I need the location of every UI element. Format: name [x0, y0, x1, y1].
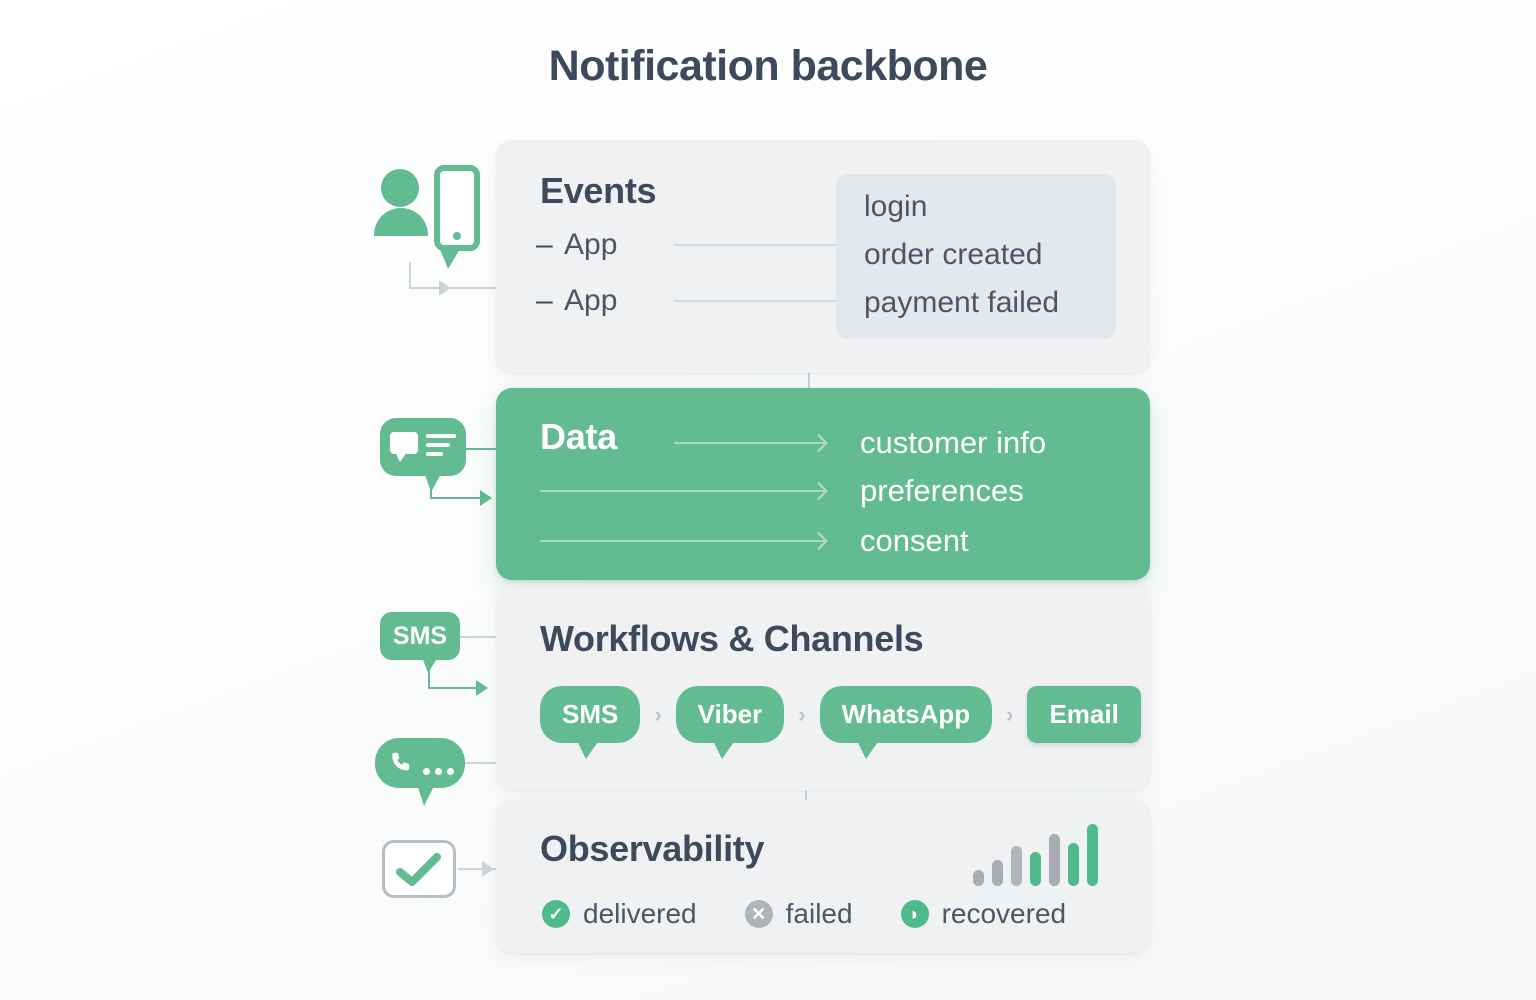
card-data[interactable]: Data customer info preferences consent	[496, 388, 1150, 580]
sparkline-chart	[973, 822, 1098, 886]
observability-title: Observability	[540, 828, 764, 870]
data-row-arrow	[540, 490, 824, 492]
legend-label: failed	[786, 898, 853, 930]
chat-line-3	[426, 452, 443, 456]
call-dot-3	[447, 768, 454, 775]
checkbox-icon	[382, 840, 456, 898]
connector-data-elbow-vertical	[430, 476, 432, 498]
user-phone-icon	[378, 165, 480, 260]
workflows-title: Workflows & Channels	[540, 618, 923, 660]
card-workflows[interactable]: Workflows & Channels SMS › Viber › Whats…	[496, 588, 1150, 790]
call-bubble-icon	[375, 738, 465, 788]
phone-handset-glyph	[389, 750, 415, 776]
call-bubble-tail	[417, 784, 435, 806]
event-example-item: order created	[864, 238, 1042, 272]
failed-icon: ✕	[745, 900, 773, 928]
user-head-shape	[381, 169, 419, 207]
events-examples-panel: login order created payment failed	[836, 174, 1116, 339]
sparkline-bar	[1011, 846, 1022, 886]
connector-sms-horizontal	[460, 636, 498, 638]
chat-line-2	[426, 443, 450, 447]
sms-badge-tail	[422, 657, 438, 673]
data-row-label: consent	[860, 523, 969, 559]
data-row: customer info	[540, 426, 1110, 460]
channel-chip-label: SMS	[562, 699, 618, 729]
call-dot-1	[423, 768, 430, 775]
events-row: – App	[536, 284, 844, 318]
legend-label: recovered	[942, 898, 1067, 930]
data-row-label: preferences	[860, 473, 1024, 509]
phone-bubble-tail	[440, 249, 460, 269]
channel-chip-sms[interactable]: SMS	[540, 686, 640, 743]
legend-item-failed: ✕ failed	[745, 898, 853, 930]
data-row-arrow	[540, 540, 824, 542]
sparkline-bar	[1049, 834, 1060, 886]
events-row-arrow	[674, 300, 844, 302]
checkmark-glyph	[395, 852, 443, 888]
chat-bubble-glyph	[390, 432, 418, 454]
sparkline-bar	[1030, 852, 1041, 886]
chat-line-1	[426, 434, 456, 438]
events-row-arrow	[674, 244, 844, 246]
sparkline-bar	[1087, 824, 1098, 886]
connector-events-elbow-horizontal	[409, 287, 497, 289]
connector-sms-elbow-vertical	[428, 660, 430, 688]
data-row: preferences	[540, 474, 1110, 508]
chat-bubble-tail	[424, 472, 442, 492]
connector-events-to-data	[808, 373, 810, 389]
channel-chip-label: WhatsApp	[842, 699, 971, 729]
legend-label: delivered	[583, 898, 697, 930]
events-row-dash: –	[536, 230, 564, 260]
connector-call-horizontal	[465, 762, 498, 764]
channel-chip-label: Viber	[698, 699, 763, 729]
user-body-shape	[374, 208, 428, 236]
data-row: consent	[540, 524, 1110, 558]
channel-chip-label: Email	[1049, 699, 1118, 729]
channel-chip-whatsapp[interactable]: WhatsApp	[820, 686, 993, 743]
sparkline-bar	[973, 870, 984, 886]
events-row: – App	[536, 228, 844, 262]
connector-events-arrowhead	[439, 280, 451, 296]
connector-observability-arrowhead	[482, 861, 494, 877]
sms-badge-icon: SMS	[380, 612, 460, 660]
connector-events-elbow-vertical	[409, 262, 411, 288]
connector-data-arrowhead	[480, 490, 492, 506]
events-title: Events	[540, 170, 656, 212]
event-example-item: login	[864, 190, 927, 224]
card-observability[interactable]: Observability ✓ delivered ✕ failed ◗ rec…	[496, 800, 1150, 953]
diagram-canvas: Notification backbone Events – App – App…	[0, 0, 1536, 1000]
sparkline-bar	[1068, 843, 1079, 886]
channel-chip-email[interactable]: Email	[1027, 686, 1140, 743]
data-row-label: customer info	[860, 425, 1046, 461]
card-events[interactable]: Events – App – App login order created p…	[496, 140, 1150, 373]
channel-chip-viber[interactable]: Viber	[676, 686, 785, 743]
chat-bubble-icon	[380, 418, 466, 476]
events-row-label: App	[564, 228, 664, 262]
chip-separator-icon: ›	[654, 702, 661, 728]
chip-separator-icon: ›	[798, 702, 805, 728]
phone-outline-shape	[434, 165, 480, 251]
event-example-item: payment failed	[864, 286, 1059, 320]
recovered-icon: ◗	[901, 900, 929, 928]
events-row-dash: –	[536, 286, 564, 316]
sparkline-bar	[992, 860, 1003, 886]
connector-data-horizontal	[466, 448, 498, 450]
connector-sms-arrowhead	[476, 680, 488, 696]
status-legend: ✓ delivered ✕ failed ◗ recovered	[542, 898, 1114, 930]
legend-item-delivered: ✓ delivered	[542, 898, 697, 930]
delivered-icon: ✓	[542, 900, 570, 928]
data-row-arrow	[674, 442, 824, 444]
events-row-label: App	[564, 284, 664, 318]
chip-separator-icon: ›	[1006, 702, 1013, 728]
channel-chip-list: SMS › Viber › WhatsApp › Email	[540, 686, 1141, 743]
sms-badge-label: SMS	[393, 622, 447, 651]
page-title: Notification backbone	[0, 42, 1536, 91]
legend-item-recovered: ◗ recovered	[901, 898, 1067, 930]
phone-home-dot	[453, 232, 461, 240]
call-dot-2	[435, 768, 442, 775]
